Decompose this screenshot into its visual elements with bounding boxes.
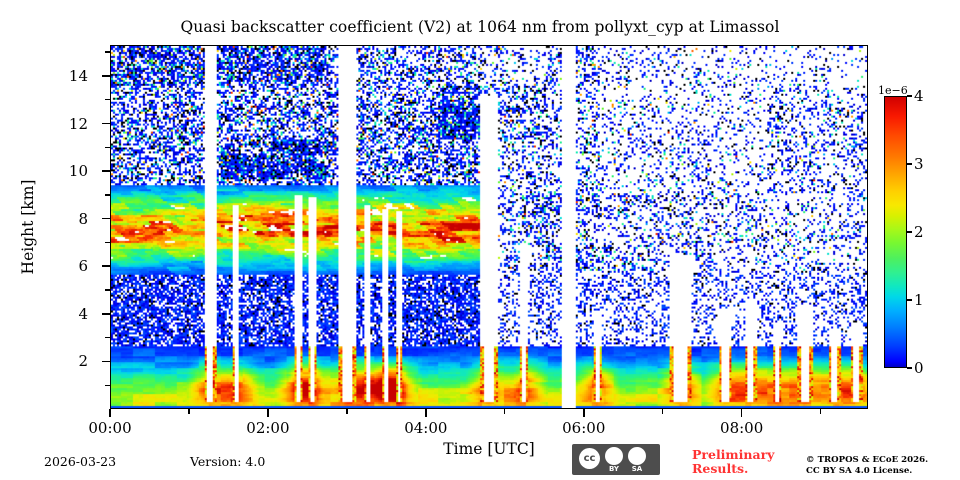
y-axis-minor-tick	[105, 385, 110, 386]
y-axis-tick	[102, 75, 110, 77]
y-axis-tick-label: 4	[78, 305, 88, 323]
colorbar-tick	[907, 95, 912, 97]
x-axis-tick-label: 00:00	[88, 419, 131, 437]
copyright-line-2: CC BY SA 4.0 License.	[806, 466, 912, 476]
colorbar-gradient	[884, 96, 907, 368]
x-axis-tick-label: 02:00	[246, 419, 289, 437]
y-axis-tick	[102, 123, 110, 125]
footer-version: Version: 4.0	[190, 454, 265, 469]
colorbar-tick-label: 4	[914, 87, 924, 105]
copyright-note: © TROPOS & ECoE 2026. CC BY SA 4.0 Licen…	[806, 455, 928, 477]
preliminary-line-2: Results.	[692, 461, 748, 476]
y-axis-title: Height [km]	[19, 180, 37, 275]
x-axis-tick	[267, 409, 269, 417]
y-axis-minor-tick	[105, 337, 110, 338]
colorbar-tick	[907, 367, 912, 369]
x-axis-minor-tick	[346, 409, 347, 414]
y-axis-tick	[102, 218, 110, 220]
y-axis-minor-tick	[105, 194, 110, 195]
y-axis-minor-tick	[105, 289, 110, 290]
preliminary-line-1: Preliminary	[692, 447, 774, 462]
x-axis-tick-label: 06:00	[562, 419, 605, 437]
preliminary-results-note: Preliminary Results.	[692, 448, 774, 477]
x-axis-minor-tick	[662, 409, 663, 414]
y-axis-tick-label: 14	[69, 67, 88, 85]
y-axis-minor-tick	[105, 99, 110, 100]
copyright-line-1: © TROPOS & ECoE 2026.	[806, 455, 928, 465]
x-axis-minor-tick	[504, 409, 505, 414]
cc-logo-text: cc	[579, 454, 600, 464]
y-axis-tick	[102, 361, 110, 363]
x-axis-minor-tick	[188, 409, 189, 414]
x-axis-tick	[741, 409, 743, 417]
y-axis-tick	[102, 265, 110, 267]
x-axis-minor-tick	[820, 409, 821, 414]
colorbar-tick-label: 1	[914, 291, 924, 309]
x-axis-title: Time [UTC]	[443, 440, 534, 458]
y-axis-minor-tick	[105, 242, 110, 243]
y-axis-tick	[102, 313, 110, 315]
x-axis-tick	[583, 409, 585, 417]
heatmap-plot-area	[110, 45, 868, 409]
y-axis-tick-label: 10	[69, 162, 88, 180]
cc-sa-label: SA	[626, 465, 648, 473]
colorbar-tick-label: 3	[914, 155, 924, 173]
x-axis-tick-label: 08:00	[720, 419, 763, 437]
colorbar-tick	[907, 231, 912, 233]
y-axis-tick-label: 8	[78, 210, 88, 228]
cc-by-label: BY	[603, 465, 625, 473]
colorbar-tick-label: 0	[914, 359, 924, 377]
creative-commons-badge-icon: cc BY SA	[572, 444, 660, 475]
colorbar-tick-label: 2	[914, 223, 924, 241]
footer-date: 2026-03-23	[44, 454, 116, 469]
page-title: Quasi backscatter coefficient (V2) at 10…	[0, 18, 960, 36]
y-axis-tick-label: 12	[69, 115, 88, 133]
heatmap-canvas	[111, 46, 867, 408]
x-axis-tick-label: 04:00	[404, 419, 447, 437]
colorbar-tick	[907, 163, 912, 165]
y-axis-minor-tick	[105, 51, 110, 52]
colorbar	[884, 96, 907, 368]
colorbar-tick	[907, 299, 912, 301]
x-axis-tick	[425, 409, 427, 417]
y-axis-tick-label: 6	[78, 257, 88, 275]
y-axis-tick-label: 2	[78, 352, 88, 370]
y-axis-tick	[102, 170, 110, 172]
x-axis-tick	[109, 409, 111, 417]
cc-sa-sharealike-icon	[628, 447, 646, 465]
cc-by-person-icon	[605, 447, 623, 465]
y-axis-minor-tick	[105, 147, 110, 148]
